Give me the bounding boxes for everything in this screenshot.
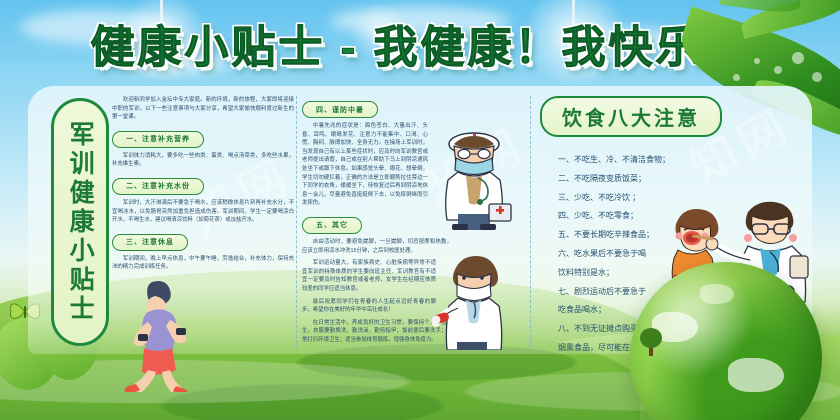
section-body-4: 中暑先兆的症状是：面色苍白、大量出汗、头昏、耳鸣、眼睛发花、注意力不能集中、口渴…	[302, 122, 428, 208]
section-heading-4: 四、谨防中暑	[302, 101, 378, 118]
water-drop-decor	[812, 72, 822, 82]
poster-canvas: 健康小贴士 - 我健康！我快乐！ 知网 知网 知网 军训健康小贴士 欢迎新同学加…	[0, 0, 840, 420]
column-divider	[530, 96, 531, 348]
doctor-with-medical-kit-icon	[432, 128, 516, 230]
vertical-banner-text: 军训健康小贴士	[67, 121, 93, 324]
section-heading-1: 一、注意补充营养	[112, 131, 204, 148]
globe-landmass	[700, 284, 734, 304]
globe-landmass	[728, 358, 784, 392]
section-heading-5: 五、其它	[302, 217, 362, 234]
section-body-5b: 军训运动量大，有家族病史、心脏疾病等异常不适宜军训的特殊体质的学生要向班主任、军…	[302, 259, 436, 293]
water-drop-decor	[792, 52, 804, 64]
water-drop-decor	[774, 66, 782, 74]
section-body-3: 军训期间，晚上早点休息，中午要午睡，劳逸结合，补充体力，保持充沛的精力完成训练任…	[112, 255, 294, 272]
water-drop-decor	[733, 74, 740, 81]
column-divider	[296, 96, 297, 348]
section-heading-2: 二、注意补充水份	[112, 178, 204, 195]
section-heading-3: 三、注意休息	[112, 234, 188, 251]
water-drop-decor	[754, 58, 760, 64]
intro-paragraph: 欢迎新同学加入金坛中专大家庭。新的环境，新的旅程，大家即将迎接中职的军训，以下一…	[112, 96, 294, 122]
list-item: 一、不吃生、冷、不清洁食物；	[558, 151, 806, 170]
section-body-5c: 最后祝愿同学们在青春的人生起点迈好青春的脚步，希望你在美好的年华中茁壮成长！	[302, 298, 436, 315]
tree-decor	[640, 328, 662, 356]
eating-tips-heading: 饮食八大注意	[540, 96, 722, 137]
section-body-2: 军训时，大汗淋漓后不要急于喝水，应该稍微休息片刻再补充水分，不宜喝冰水，以免肠胃…	[112, 199, 294, 225]
vertical-banner: 军训健康小贴士	[51, 98, 109, 346]
running-student-icon	[112, 276, 206, 392]
section-body-1: 军训体力消耗大，要多吃一些肉类、蛋类、喝点汤菜类，多吃些水果，补充维生素。	[112, 152, 294, 169]
doctor-with-capsule-icon	[430, 252, 516, 350]
column-left: 欢迎新同学加入金坛中专大家庭。新的环境，新的旅程，大家即将迎接中职的军训，以下一…	[112, 96, 294, 276]
list-item: 二、不吃隔夜变质饭菜；	[558, 170, 806, 189]
